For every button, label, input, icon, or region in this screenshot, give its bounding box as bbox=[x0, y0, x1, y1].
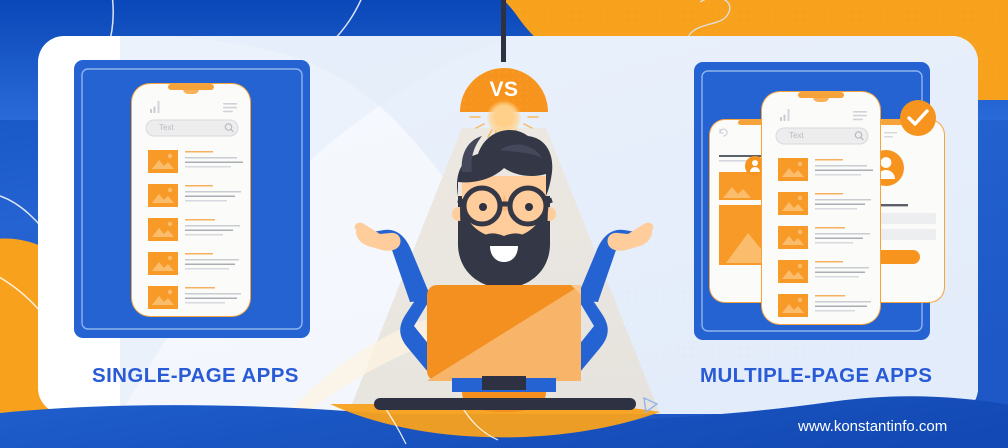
left-mockup-group bbox=[74, 60, 310, 338]
center-phone bbox=[761, 86, 881, 325]
website-url: www.konstantinfo.com bbox=[798, 418, 947, 435]
center-search-placeholder: Text bbox=[789, 131, 804, 140]
bearded-man-illustration bbox=[355, 130, 654, 412]
right-mockup-group bbox=[694, 62, 945, 340]
left-search-placeholder: Text bbox=[159, 123, 174, 132]
laptop-hinge bbox=[482, 376, 526, 390]
banner-canvas: VS SINGLE-PAGE APPS MULTIPLE-PAGE APPS w… bbox=[0, 0, 1008, 448]
left-section-label: SINGLE-PAGE APPS bbox=[92, 364, 299, 388]
light-bulb-icon bbox=[494, 107, 514, 127]
left-hand bbox=[355, 223, 401, 251]
check-circle-icon bbox=[900, 100, 936, 136]
lamp-cord bbox=[501, 0, 506, 62]
orange-laptop bbox=[427, 285, 581, 381]
left-eye bbox=[479, 203, 487, 211]
pendant-lamp bbox=[460, 0, 548, 140]
right-section-label: MULTIPLE-PAGE APPS bbox=[700, 364, 932, 388]
vs-label: VS bbox=[481, 78, 527, 102]
right-eye bbox=[525, 203, 533, 211]
left-phone bbox=[131, 78, 251, 317]
desk bbox=[374, 398, 636, 410]
right-hand bbox=[607, 223, 653, 251]
